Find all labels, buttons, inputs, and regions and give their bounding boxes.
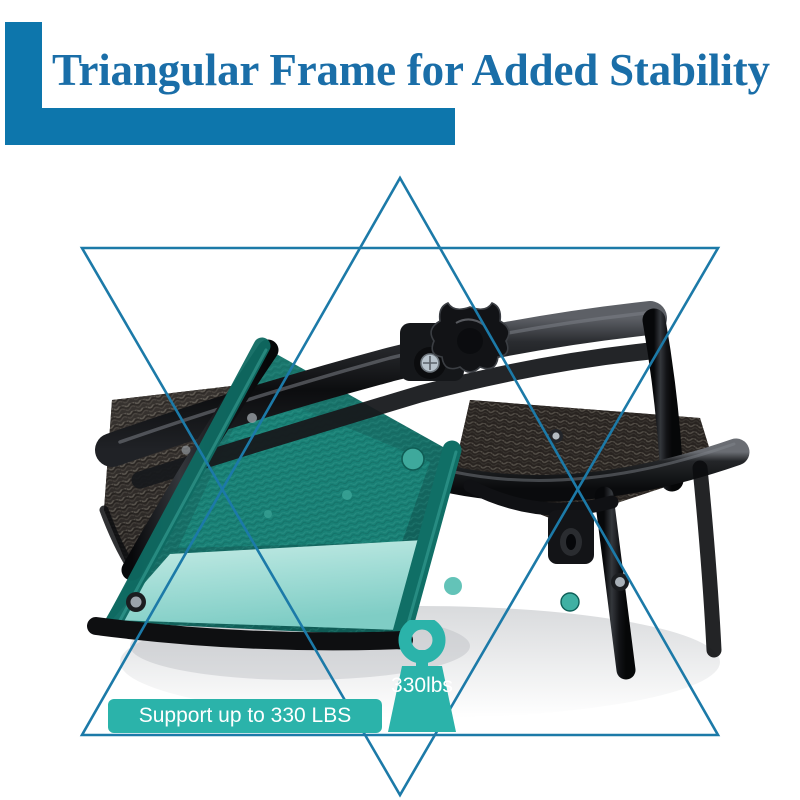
page-title: Triangular Frame for Added Stability (52, 37, 800, 103)
weight-label: 330lbs (372, 672, 472, 700)
support-banner-label: Support up to 330 LBS (108, 699, 382, 733)
marketing-image: Triangular Frame for Added Stability Sup… (0, 0, 800, 800)
support-banner: Support up to 330 LBS (108, 699, 382, 733)
hinge-bracket (548, 510, 594, 564)
accent-bar-horizontal (5, 108, 455, 145)
